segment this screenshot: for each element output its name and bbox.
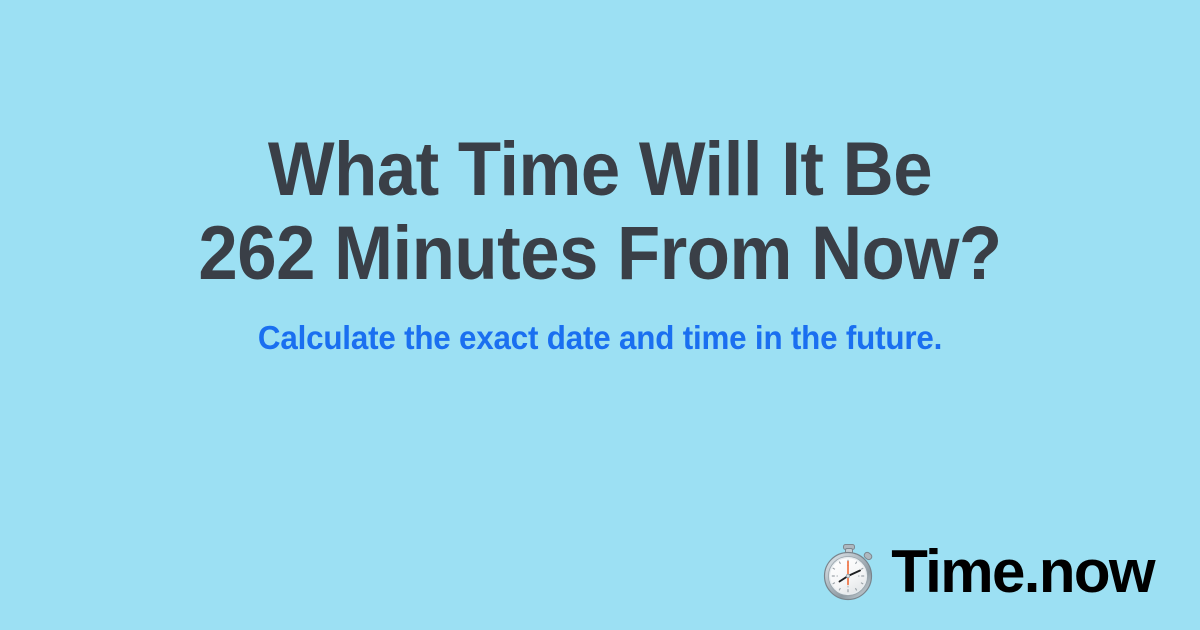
brand-lockup[interactable]: Time.now <box>821 542 1154 602</box>
stopwatch-icon <box>821 543 877 601</box>
hero-text-block: What Time Will It Be 262 Minutes From No… <box>0 128 1200 358</box>
page-title: What Time Will It Be 262 Minutes From No… <box>42 128 1158 296</box>
social-share-card: What Time Will It Be 262 Minutes From No… <box>0 0 1200 630</box>
page-title-line-2: 262 Minutes From Now? <box>42 212 1158 296</box>
brand-wordmark: Time.now <box>891 542 1154 602</box>
page-title-line-1: What Time Will It Be <box>42 128 1158 212</box>
page-subtitle: Calculate the exact date and time in the… <box>30 318 1170 358</box>
